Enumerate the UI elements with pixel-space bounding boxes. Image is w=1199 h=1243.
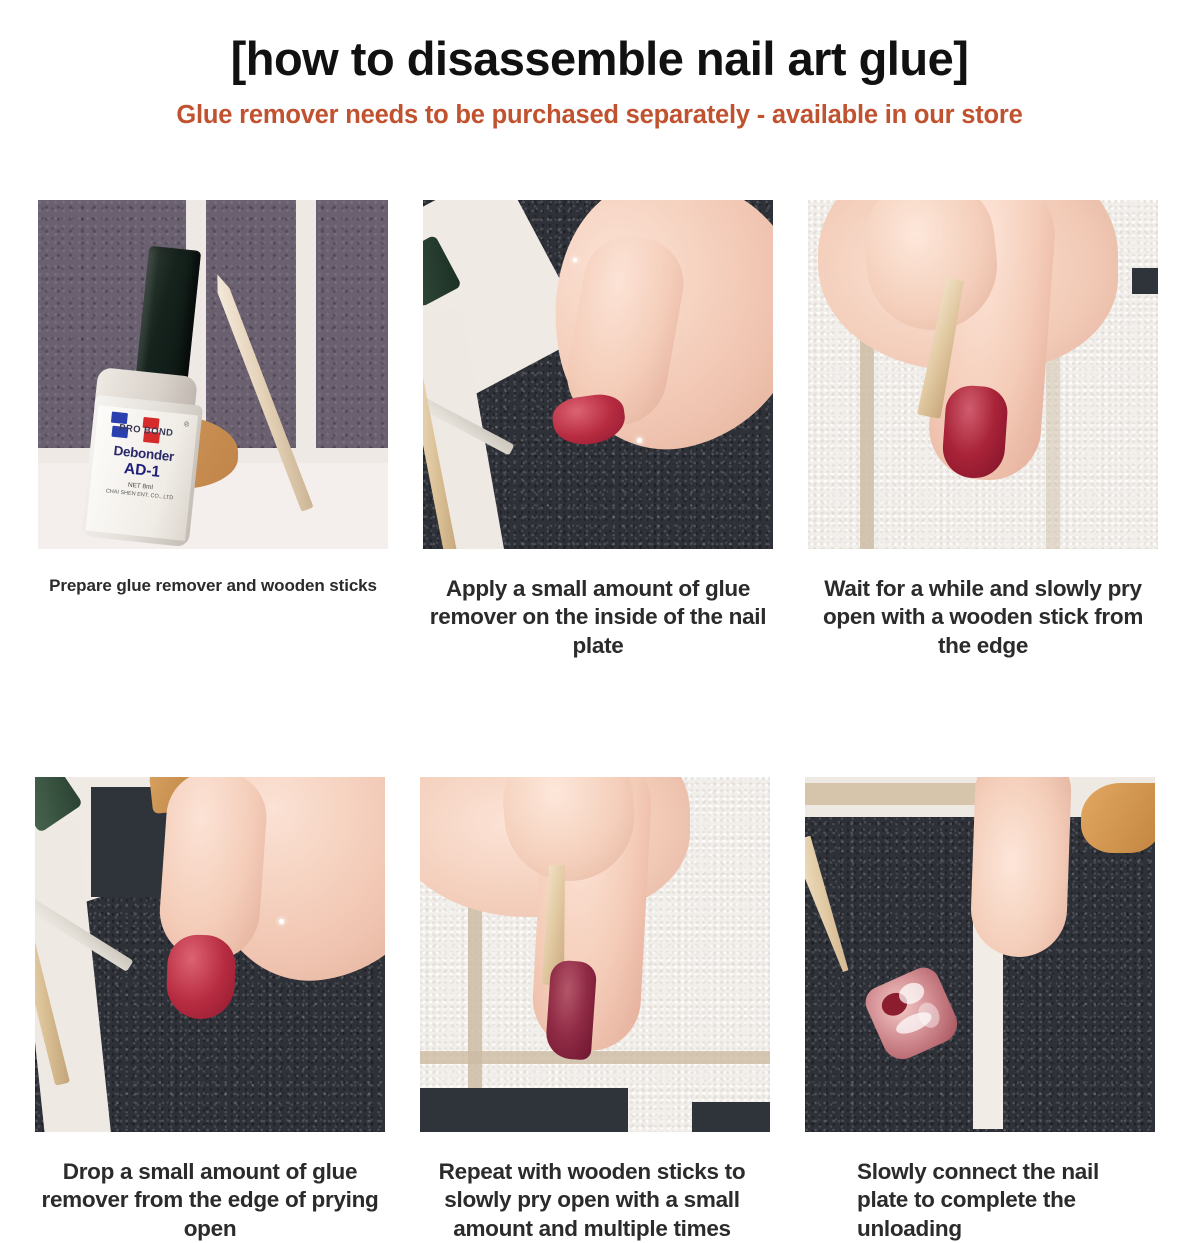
step-card-1: PRO BOND ® Debonder AD-1 NET 8ml CHAI SH…: [38, 200, 388, 660]
step-caption-6: Slowly connect the nail plate to complet…: [805, 1158, 1155, 1243]
sparkle: [573, 258, 577, 262]
registered-mark-icon: ®: [184, 421, 190, 429]
glue-remover-bottle: PRO BOND ® Debonder AD-1 NET 8ml CHAI SH…: [81, 395, 203, 548]
step-card-3: Wait for a while and slowly pry open wit…: [808, 200, 1158, 660]
sparkle: [279, 919, 284, 924]
step-photo-1: PRO BOND ® Debonder AD-1 NET 8ml CHAI SH…: [38, 200, 388, 549]
steps-row-top: PRO BOND ® Debonder AD-1 NET 8ml CHAI SH…: [38, 200, 1199, 660]
sparkle: [637, 438, 642, 443]
red-nail: [166, 934, 237, 1020]
header: [how to disassemble nail art glue] Glue …: [0, 0, 1199, 129]
infographic-page: [how to disassemble nail art glue] Glue …: [0, 0, 1199, 1200]
step-caption-4: Drop a small amount of glue remover from…: [35, 1158, 385, 1243]
page-title: [how to disassemble nail art glue]: [0, 34, 1199, 85]
towel-stripe-horizontal: [805, 783, 995, 805]
steps-row-bottom: Drop a small amount of glue remover from…: [35, 777, 1199, 1243]
page-subtitle: Glue remover needs to be purchased separ…: [0, 101, 1199, 129]
step-card-2: Apply a small amount of glue remover on …: [423, 200, 773, 660]
step-photo-2: [423, 200, 773, 549]
steps-grid: PRO BOND ® Debonder AD-1 NET 8ml CHAI SH…: [0, 200, 1199, 1243]
step-card-4: Drop a small amount of glue remover from…: [35, 777, 385, 1243]
step-caption-5: Repeat with wooden sticks to slowly pry …: [420, 1158, 770, 1243]
step-caption-1: Prepare glue remover and wooden sticks: [38, 575, 388, 596]
step-caption-2: Apply a small amount of glue remover on …: [423, 575, 773, 660]
red-nail: [941, 384, 1009, 480]
step-caption-3: Wait for a while and slowly pry open wit…: [808, 575, 1158, 660]
finger: [969, 777, 1072, 959]
mat-dark-block: [692, 1102, 770, 1132]
red-nail: [545, 960, 598, 1061]
step-photo-6: [805, 777, 1155, 1132]
step-card-5: Repeat with wooden sticks to slowly pry …: [420, 777, 770, 1243]
bottle-label: PRO BOND ® Debonder AD-1 NET 8ml CHAI SH…: [85, 405, 198, 541]
towel-stripe-horizontal: [420, 1051, 770, 1064]
step-photo-5: [420, 777, 770, 1132]
step-photo-3: [808, 200, 1158, 549]
wood-surface-patch: [1081, 783, 1155, 853]
mat-dark-block: [420, 1088, 628, 1132]
step-card-6: Slowly connect the nail plate to complet…: [805, 777, 1155, 1243]
step-photo-4: [35, 777, 385, 1132]
mat-dark-corner: [1132, 268, 1158, 294]
